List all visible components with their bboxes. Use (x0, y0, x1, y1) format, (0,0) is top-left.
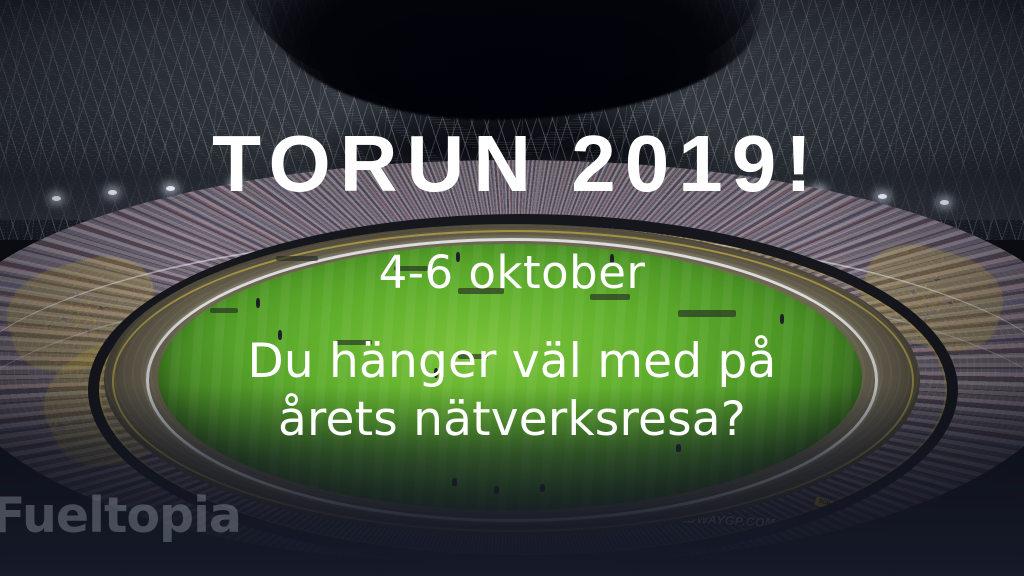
page-title: TORUN 2019! (0, 122, 1024, 206)
tagline-line-2: årets nätverksresa? (0, 391, 1024, 449)
event-dates: 4-6 oktober (0, 247, 1024, 299)
tagline-line-1: Du hänger väl med på (0, 333, 1024, 391)
event-poster: SGP SPEEDWAYGP.COM SGP SPEEDWAYGP.COM SG… (0, 0, 1024, 576)
tagline: Du hänger väl med på årets nätverksresa? (0, 333, 1024, 449)
watermark: Fueltopia (0, 488, 241, 544)
